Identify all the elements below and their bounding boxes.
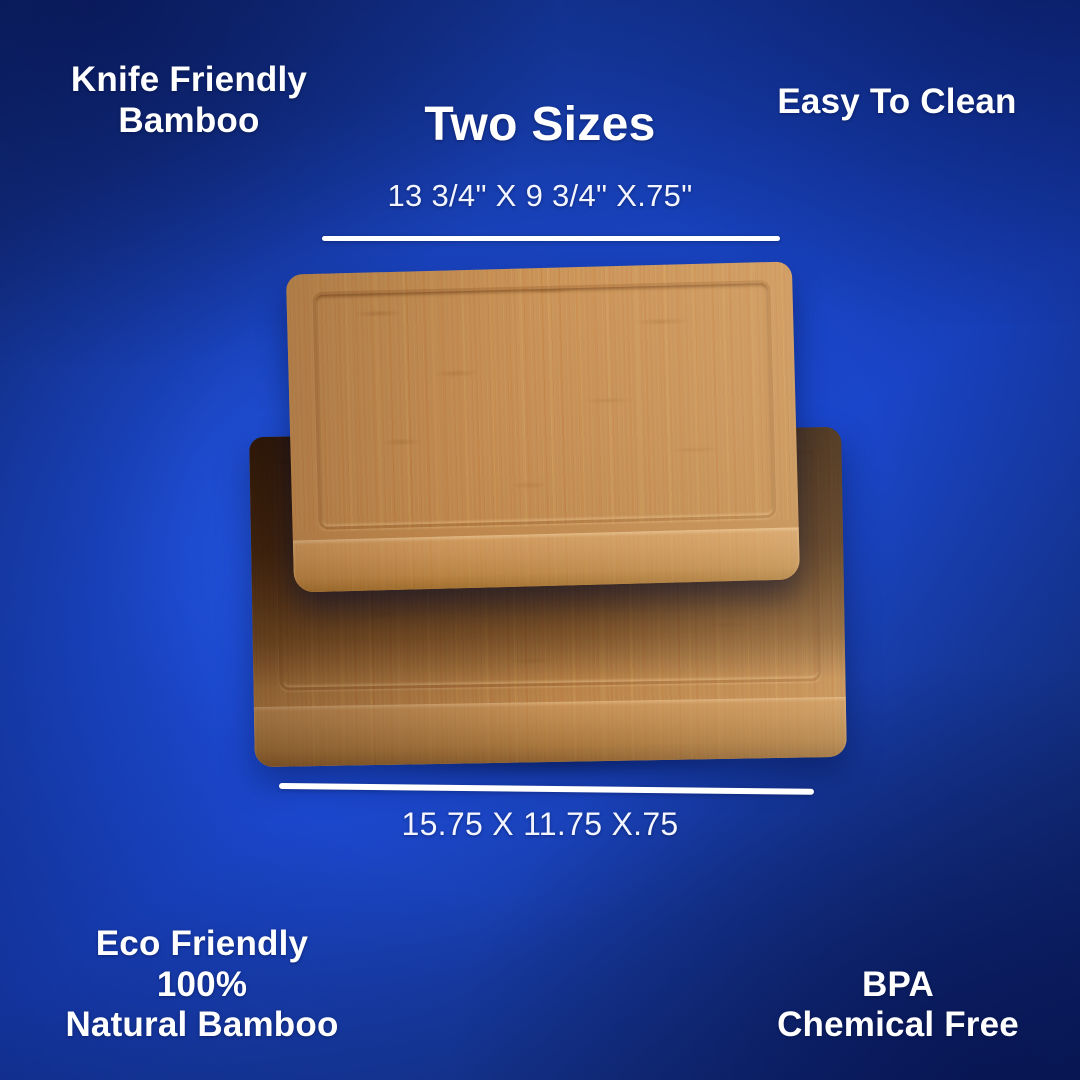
top-board-lighting <box>286 261 800 592</box>
feature-eco-friendly-line3: Natural Bamboo <box>22 1005 382 1046</box>
bottom-board-dimension-label: 15.75 X 11.75 X.75 <box>260 806 820 843</box>
feature-bpa-line2: Chemical Free <box>738 1005 1058 1046</box>
feature-eco-friendly: Eco Friendly 100% Natural Bamboo <box>22 924 382 1046</box>
feature-bpa-line1: BPA <box>738 965 1058 1006</box>
feature-eco-friendly-line2: 100% <box>22 965 382 1006</box>
page-title: Two Sizes <box>290 97 790 153</box>
product-image <box>0 0 1080 1080</box>
feature-bpa-chemical-free: BPA Chemical Free <box>738 965 1058 1046</box>
top-board <box>286 261 800 592</box>
feature-easy-to-clean: Easy To Clean <box>742 82 1052 123</box>
top-dimension-rule <box>322 236 780 241</box>
feature-knife-friendly-line1: Knife Friendly <box>34 60 344 101</box>
feature-knife-friendly: Knife Friendly Bamboo <box>34 60 344 141</box>
feature-eco-friendly-line1: Eco Friendly <box>22 924 382 965</box>
top-board-dimension-label: 13 3/4" X 9 3/4" X.75" <box>280 178 800 214</box>
product-infographic: Two Sizes 13 3/4" X 9 3/4" X.75" 15.75 X… <box>0 0 1080 1080</box>
feature-knife-friendly-line2: Bamboo <box>34 101 344 142</box>
